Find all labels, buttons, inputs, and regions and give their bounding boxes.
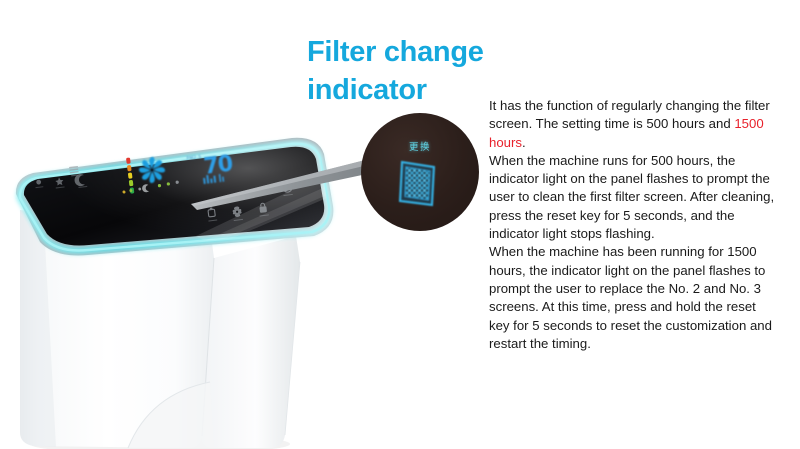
slide-canvas: PM2.5 70 [0, 0, 800, 449]
filter-change-callout: 更换 [361, 113, 479, 231]
description-paragraph-1: It has the function of regularly changin… [489, 97, 777, 152]
filter-mesh-icon [397, 158, 439, 210]
description-paragraph-3: When the machine has been running for 15… [489, 243, 777, 353]
description-p1-post: . [522, 135, 526, 150]
description-p1-pre: It has the function of regularly changin… [489, 98, 770, 131]
page-title-line-1: Filter change [307, 33, 537, 71]
description-block: It has the function of regularly changin… [489, 97, 777, 353]
description-paragraph-2: When the machine runs for 500 hours, the… [489, 152, 777, 243]
callout-label-replace: 更换 [361, 139, 479, 153]
